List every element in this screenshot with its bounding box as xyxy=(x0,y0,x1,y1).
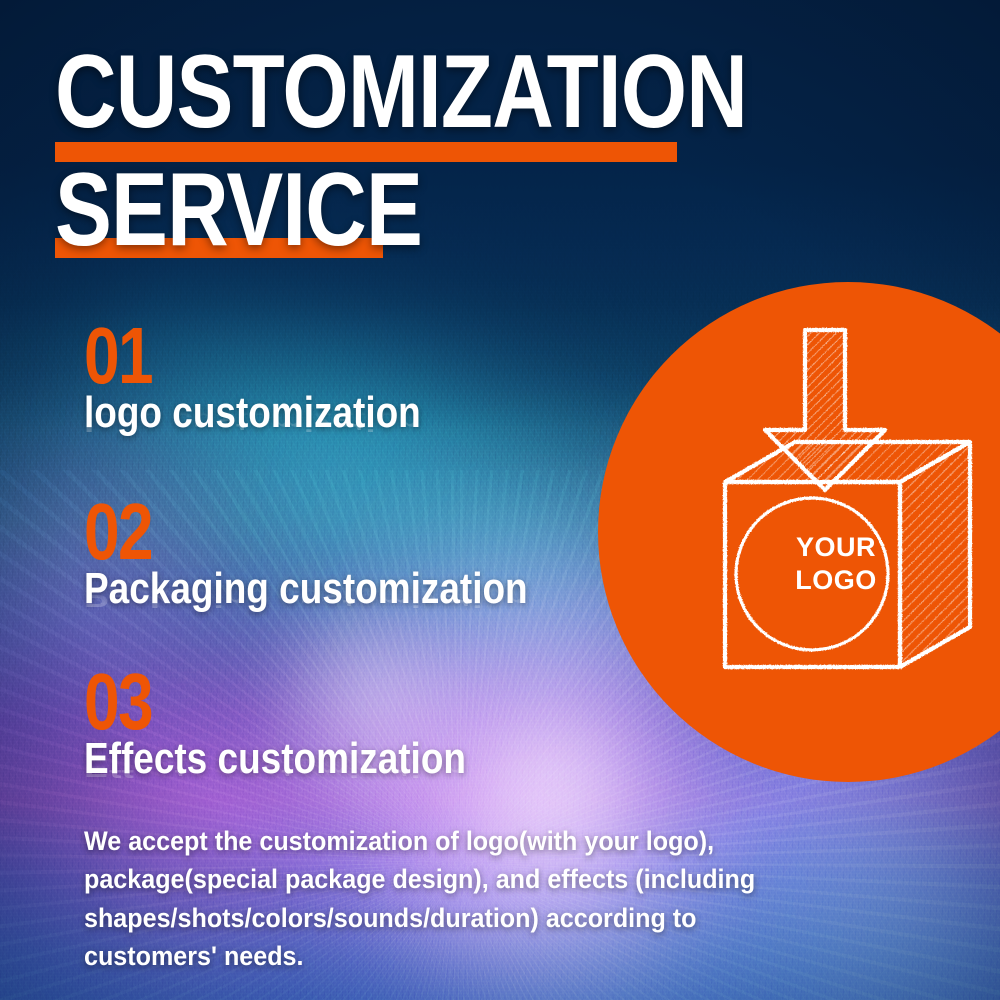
feature-item-3: 03 Effects customization Effects customi… xyxy=(84,668,539,825)
title-line-1: CUSTOMIZATION xyxy=(55,48,747,137)
poster-title: CUSTOMIZATION SERVICE xyxy=(55,48,899,258)
promo-poster: CUSTOMIZATION SERVICE 01 logo customizat… xyxy=(0,0,1000,1000)
feature-item-2: 02 Packaging customization Packaging cus… xyxy=(84,498,612,655)
feature-item-1-number: 01 xyxy=(84,322,405,389)
feature-item-1: 01 logo customization logo customization xyxy=(84,322,485,479)
description-paragraph: We accept the customization of logo(with… xyxy=(84,822,800,975)
feature-item-1-label: logo customization xyxy=(84,391,421,435)
your-logo-line-1: YOUR xyxy=(761,532,911,564)
feature-item-3-number: 03 xyxy=(84,668,448,735)
title-line-2: SERVICE xyxy=(55,166,747,255)
feature-item-2-label: Packaging customization xyxy=(84,567,528,611)
feature-item-2-number: 02 xyxy=(84,498,506,565)
feature-item-3-label: Effects customization xyxy=(84,737,466,781)
your-logo-line-2: LOGO xyxy=(761,565,911,597)
